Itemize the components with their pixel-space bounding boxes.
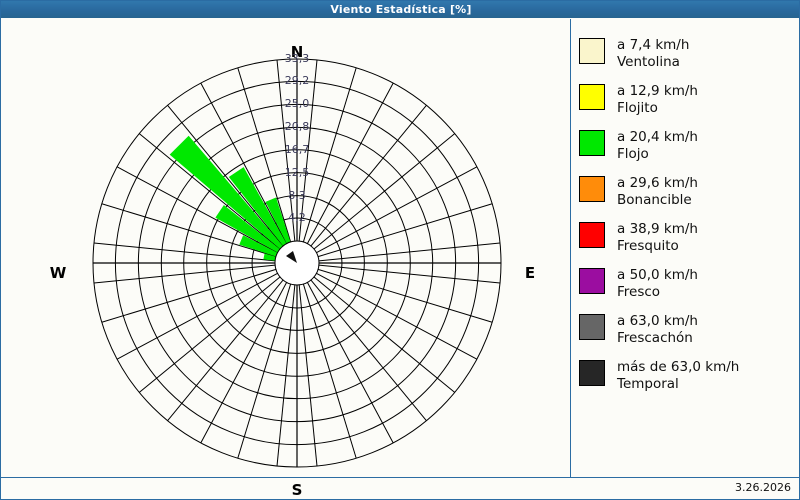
wind-rose-window: Viento Estadística [%] N S W E 4,28,312,… xyxy=(0,0,800,500)
radial-tick-label: 12,5 xyxy=(275,166,319,179)
legend-item[interactable]: a 63,0 km/hFrescachón xyxy=(579,313,794,349)
radial-tick-label: 4,2 xyxy=(275,211,319,224)
legend-speed-label: a 12,9 km/h xyxy=(617,83,698,100)
legend-item[interactable]: a 29,6 km/hBonancible xyxy=(579,175,794,211)
legend-speed-label: a 7,4 km/h xyxy=(617,37,689,54)
legend-name-label: Fresco xyxy=(617,284,698,301)
grid-spoke xyxy=(102,269,276,322)
wind-rose-petal xyxy=(170,136,283,249)
legend-item[interactable]: a 12,9 km/hFlojito xyxy=(579,83,794,119)
legend-label: a 63,0 km/hFrescachón xyxy=(617,313,698,347)
radial-tick-label: 33,3 xyxy=(275,52,319,65)
legend-speed-label: a 29,6 km/h xyxy=(617,175,698,192)
legend-name-label: Frescachón xyxy=(617,330,698,347)
date-stamp: 3.26.2026 xyxy=(735,481,791,494)
legend-label: a 12,9 km/hFlojito xyxy=(617,83,698,117)
legend-label: más de 63,0 km/hTemporal xyxy=(617,359,739,393)
legend-label: a 29,6 km/hBonancible xyxy=(617,175,698,209)
radial-tick-label: 25,0 xyxy=(275,97,319,110)
grid-spoke xyxy=(94,265,275,283)
legend-label: a 50,0 km/hFresco xyxy=(617,267,698,301)
legend-color-swatch xyxy=(579,360,605,386)
window-title-bar: Viento Estadística [%] xyxy=(1,1,800,18)
grid-spoke xyxy=(318,204,492,257)
legend-item[interactable]: a 20,4 km/hFlojo xyxy=(579,129,794,165)
legend-label: a 38,9 km/hFresquito xyxy=(617,221,698,255)
window-title: Viento Estadística [%] xyxy=(330,3,471,16)
legend-item[interactable]: a 7,4 km/hVentolina xyxy=(579,37,794,73)
grid-spoke xyxy=(319,243,500,261)
cardinal-label-west: W xyxy=(38,264,78,282)
legend-speed-label: a 38,9 km/h xyxy=(617,221,698,238)
legend-color-swatch xyxy=(579,84,605,110)
legend-color-swatch xyxy=(579,38,605,64)
legend-speed-label: más de 63,0 km/h xyxy=(617,359,739,376)
radial-tick-label: 29,2 xyxy=(275,74,319,87)
grid-spoke xyxy=(238,284,291,458)
legend-speed-label: a 63,0 km/h xyxy=(617,313,698,330)
legend-color-swatch xyxy=(579,130,605,156)
legend-color-swatch xyxy=(579,176,605,202)
grid-spoke xyxy=(299,285,317,466)
legend-speed-label: a 20,4 km/h xyxy=(617,129,698,146)
grid-spoke xyxy=(277,285,295,466)
calm-hub xyxy=(275,241,319,285)
radial-tick-label: 8,3 xyxy=(275,189,319,202)
legend-color-swatch xyxy=(579,222,605,248)
legend-name-label: Fresquito xyxy=(617,238,698,255)
legend-color-swatch xyxy=(579,268,605,294)
footer-divider xyxy=(1,477,800,478)
legend-label: a 7,4 km/hVentolina xyxy=(617,37,689,71)
legend-name-label: Flojito xyxy=(617,100,698,117)
legend: a 7,4 km/hVentolinaa 12,9 km/hFlojitoa 2… xyxy=(579,37,794,405)
legend-name-label: Flojo xyxy=(617,146,698,163)
legend-item[interactable]: a 38,9 km/hFresquito xyxy=(579,221,794,257)
radial-tick-label: 20,8 xyxy=(275,120,319,133)
grid-spoke xyxy=(303,284,356,458)
legend-label: a 20,4 km/hFlojo xyxy=(617,129,698,163)
wind-rose-plot: N S W E 4,28,312,516,720,825,029,233,3 xyxy=(2,19,568,499)
legend-name-label: Temporal xyxy=(617,376,739,393)
legend-color-swatch xyxy=(579,314,605,340)
grid-spoke xyxy=(318,269,492,322)
legend-speed-label: a 50,0 km/h xyxy=(617,267,698,284)
wind-rose-svg xyxy=(2,19,568,499)
legend-name-label: Bonancible xyxy=(617,192,698,209)
legend-item[interactable]: más de 63,0 km/hTemporal xyxy=(579,359,794,395)
grid-spoke xyxy=(319,265,500,283)
wind-rose-petals xyxy=(170,136,290,260)
cardinal-label-east: E xyxy=(510,264,550,282)
legend-item[interactable]: a 50,0 km/hFresco xyxy=(579,267,794,303)
cardinal-label-south: S xyxy=(277,481,317,499)
radial-tick-label: 16,7 xyxy=(275,143,319,156)
legend-divider xyxy=(570,19,571,477)
legend-name-label: Ventolina xyxy=(617,54,689,71)
